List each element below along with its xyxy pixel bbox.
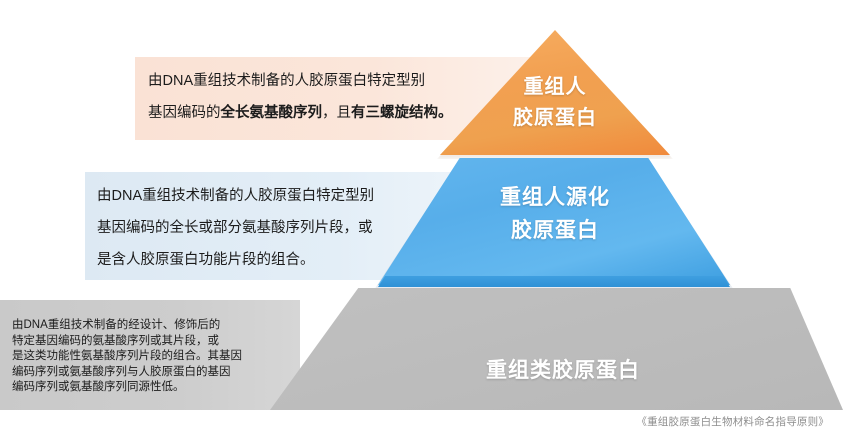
description-middle-line2: 基因编码的全长或部分氨基酸序列片段，或 — [97, 212, 417, 244]
middle-tier-bottom-edge — [378, 276, 730, 287]
description-top-line1: 由DNA重组技术制备的人胶原蛋白特定型别 — [148, 65, 468, 97]
description-bottom-line2: 特定基因编码的氨基酸序列或其片段，或 — [12, 334, 274, 350]
description-middle-line3: 是含人胶原蛋白功能片段的组合。 — [97, 244, 417, 276]
description-bottom-line3: 是这类功能性氨基酸序列片段的组合。其基因 — [12, 349, 274, 365]
source-citation: 《重组胶原蛋白生物材料命名指导原则》 — [636, 414, 829, 429]
pyramid-tier-bottom[interactable] — [270, 288, 843, 410]
description-bottom-line4: 编码序列或氨基酸序列与人胶原蛋白的基因 — [12, 365, 274, 381]
description-top-line2-bold1: 全长氨基酸序列 — [221, 105, 323, 121]
description-top-line2-bold2: 有三螺旋结构。 — [351, 105, 453, 121]
description-bottom-line5: 编码序列或氨基酸序列同源性低。 — [12, 380, 274, 396]
description-middle-line1: 由DNA重组技术制备的人胶原蛋白特定型别 — [97, 180, 417, 212]
description-top-line2-mid: ，且 — [322, 105, 351, 121]
description-bottom-line1: 由DNA重组技术制备的经设计、修饰后的 — [12, 318, 274, 334]
pyramid-diagram-canvas: 重组人 胶原蛋白 重组人源化 胶原蛋白 重组类胶原蛋白 由DNA重组技术制备的人… — [0, 0, 843, 440]
description-top-line2-plain: 基因编码的 — [148, 105, 221, 121]
description-middle-tier: 由DNA重组技术制备的人胶原蛋白特定型别 基因编码的全长或部分氨基酸序列片段，或… — [97, 180, 417, 276]
description-top-line2: 基因编码的全长氨基酸序列，且有三螺旋结构。 — [148, 97, 468, 129]
description-top-tier: 由DNA重组技术制备的人胶原蛋白特定型别 基因编码的全长氨基酸序列，且有三螺旋结… — [148, 65, 468, 129]
description-bottom-tier: 由DNA重组技术制备的经设计、修饰后的 特定基因编码的氨基酸序列或其片段，或 是… — [12, 318, 274, 396]
